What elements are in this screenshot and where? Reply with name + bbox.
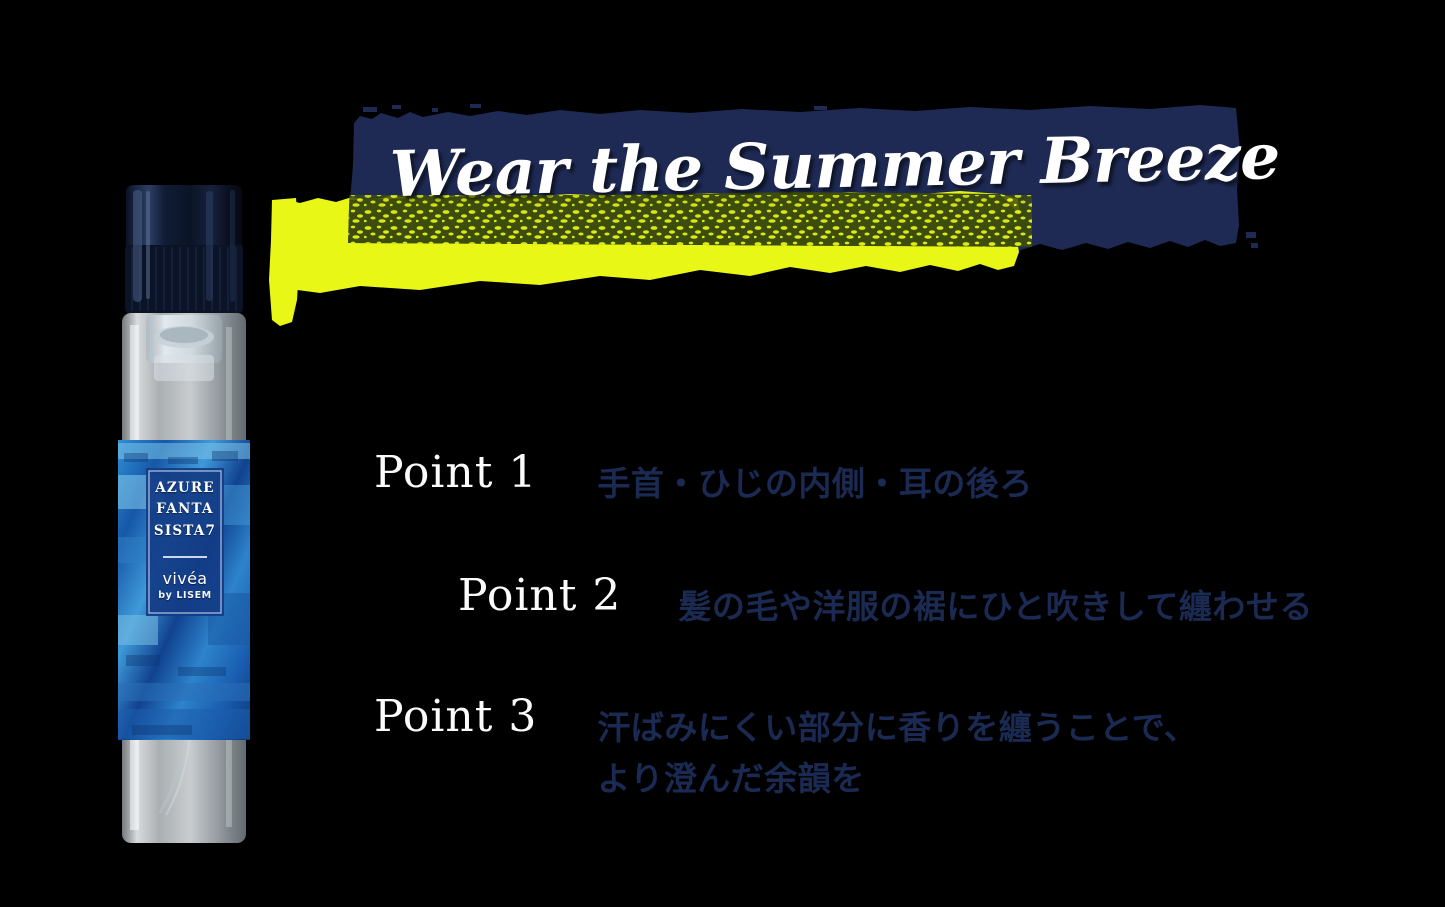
bottle-pump-neck: [146, 315, 222, 381]
point-3-text: 汗ばみにくい部分に香りを纏うことで、 より澄んだ余韻を: [597, 702, 1197, 804]
point-item-3: Point 3 汗ばみにくい部分に香りを纏うことで、 より澄んだ余韻を: [374, 694, 1197, 804]
point-2-label: Point 2: [458, 573, 621, 619]
point-3-label: Point 3: [374, 694, 537, 740]
point-1-label: Point 1: [374, 450, 537, 496]
bottle-shapes: [108, 185, 260, 850]
point-item-2: Point 2 髪の毛や洋服の裾にひと吹きして纏わせる: [458, 573, 1313, 632]
product-bottle-image: AZURE FANTA SISTA7 vivéa by LISEM: [108, 185, 260, 850]
bottle-cap: [125, 185, 243, 313]
bottle-label: [118, 440, 250, 740]
point-item-1: Point 1 手首・ひじの内側・耳の後ろ: [374, 450, 1033, 509]
point-1-text: 手首・ひじの内側・耳の後ろ: [597, 458, 1033, 509]
promo-graphic: Wear the Summer Breeze Point 1 手首・ひじの内側・…: [0, 0, 1445, 907]
page-title: Wear the Summer Breeze: [389, 126, 1220, 206]
point-2-text: 髪の毛や洋服の裾にひと吹きして纏わせる: [678, 581, 1313, 632]
